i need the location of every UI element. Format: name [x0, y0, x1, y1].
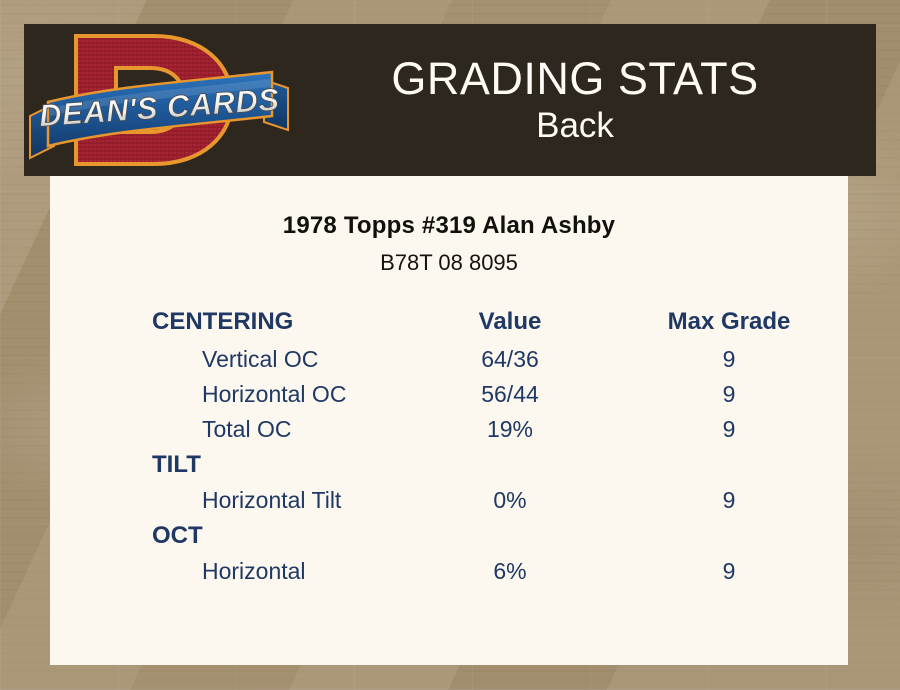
- table-row: Horizontal OC56/449: [50, 377, 848, 412]
- stat-label: Total OC: [50, 412, 410, 447]
- stat-max-grade: 9: [610, 554, 848, 589]
- header-bar: DEAN'S CARDS GRADING STATS Back: [24, 24, 876, 176]
- stat-max-grade: 9: [610, 342, 848, 377]
- deans-cards-logo[interactable]: DEAN'S CARDS: [24, 24, 294, 176]
- page-subtitle: Back: [294, 108, 856, 145]
- table-row: Horizontal Tilt0%9: [50, 483, 848, 518]
- table-section-row: TILT: [50, 447, 848, 483]
- stat-value: 6%: [410, 554, 610, 589]
- stat-label: Horizontal OC: [50, 377, 410, 412]
- stat-value: 0%: [410, 483, 610, 518]
- stat-max-grade: 9: [610, 412, 848, 447]
- stat-max-grade: 9: [610, 377, 848, 412]
- section-label: TILT: [50, 447, 410, 483]
- card-title: 1978 Topps #319 Alan Ashby: [50, 212, 848, 240]
- header-titles: GRADING STATS Back: [294, 55, 876, 145]
- table-row: Horizontal6%9: [50, 554, 848, 589]
- column-header-value: Value: [410, 308, 610, 342]
- column-header-category: CENTERING: [50, 308, 410, 342]
- page-root: DEAN'S CARDS GRADING STATS Back 1978 Top…: [0, 0, 900, 690]
- column-header-max-grade: Max Grade: [610, 308, 848, 342]
- table-section-row: OCT: [50, 518, 848, 554]
- table-header-row: CENTERING Value Max Grade: [50, 308, 848, 342]
- stat-value: 56/44: [410, 377, 610, 412]
- stat-label: Horizontal: [50, 554, 410, 589]
- stat-max-grade: [610, 447, 848, 483]
- stat-label: Horizontal Tilt: [50, 483, 410, 518]
- stat-value: [410, 447, 610, 483]
- card-subtitle: B78T 08 8095: [50, 250, 848, 276]
- stat-value: 64/36: [410, 342, 610, 377]
- table-header: CENTERING Value Max Grade: [50, 308, 848, 342]
- stat-value: 19%: [410, 412, 610, 447]
- content-panel: 1978 Topps #319 Alan Ashby B78T 08 8095 …: [50, 176, 848, 665]
- table-body: Vertical OC64/369Horizontal OC56/449Tota…: [50, 342, 848, 589]
- table-row: Vertical OC64/369: [50, 342, 848, 377]
- stat-value: [410, 518, 610, 554]
- stat-label: Vertical OC: [50, 342, 410, 377]
- table-row: Total OC19%9: [50, 412, 848, 447]
- logo-svg: DEAN'S CARDS: [24, 24, 294, 176]
- section-label: OCT: [50, 518, 410, 554]
- stat-max-grade: 9: [610, 483, 848, 518]
- page-title: GRADING STATS: [294, 55, 856, 102]
- grading-stats-table: CENTERING Value Max Grade Vertical OC64/…: [50, 308, 848, 589]
- stat-max-grade: [610, 518, 848, 554]
